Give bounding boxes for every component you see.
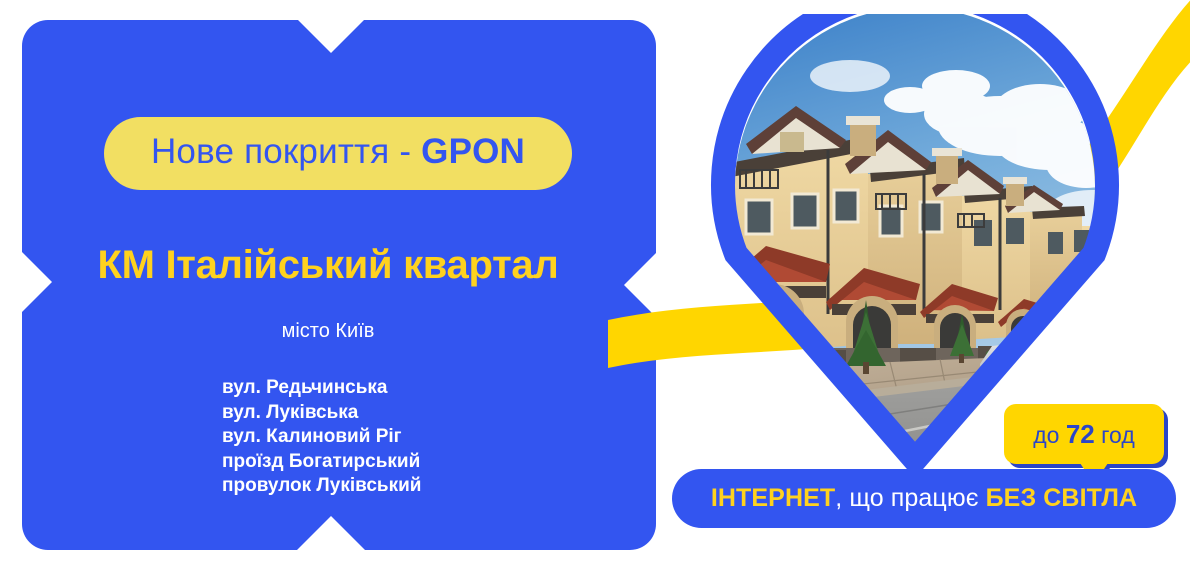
tagline-banner: ІНТЕРНЕТ, що працює БЕЗ СВІТЛА xyxy=(672,469,1176,528)
new-coverage-badge-text: Нове покриття - GPON xyxy=(151,132,525,172)
panel-notch-bottom xyxy=(296,516,366,551)
new-coverage-badge-prefix: Нове покриття - xyxy=(151,132,421,171)
hours-badge-value: 72 xyxy=(1066,419,1095,449)
panel-notch-top xyxy=(296,18,366,53)
tagline-part-middle: , що працює xyxy=(835,484,985,512)
new-coverage-badge-highlight: GPON xyxy=(421,132,525,171)
new-coverage-badge: Нове покриття - GPON xyxy=(104,117,572,190)
hours-badge-body: до 72 год xyxy=(1004,404,1164,464)
tagline-text: ІНТЕРНЕТ, що працює БЕЗ СВІТЛА xyxy=(711,484,1137,513)
hours-badge-prefix: до xyxy=(1033,422,1066,448)
hours-badge-text: до 72 год xyxy=(1033,419,1135,450)
list-item: провулок Луківський xyxy=(222,474,421,499)
complex-title: КМ Італійський квартал xyxy=(0,243,656,288)
city-label: місто Київ xyxy=(0,320,656,343)
list-item: вул. Редьчинська xyxy=(222,376,421,401)
street-list: вул. Редьчинська вул. Луківська вул. Кал… xyxy=(222,376,421,499)
hours-badge-suffix: год xyxy=(1095,422,1135,448)
list-item: вул. Луківська xyxy=(222,401,421,426)
tagline-part-no-power: БЕЗ СВІТЛА xyxy=(986,484,1138,512)
tagline-part-internet: ІНТЕРНЕТ xyxy=(711,484,835,512)
list-item: проїзд Богатирський xyxy=(222,450,421,475)
list-item: вул. Калиновий Ріг xyxy=(222,425,421,450)
promo-banner: Нове покриття - GPON КМ Італійський квар… xyxy=(0,0,1190,570)
